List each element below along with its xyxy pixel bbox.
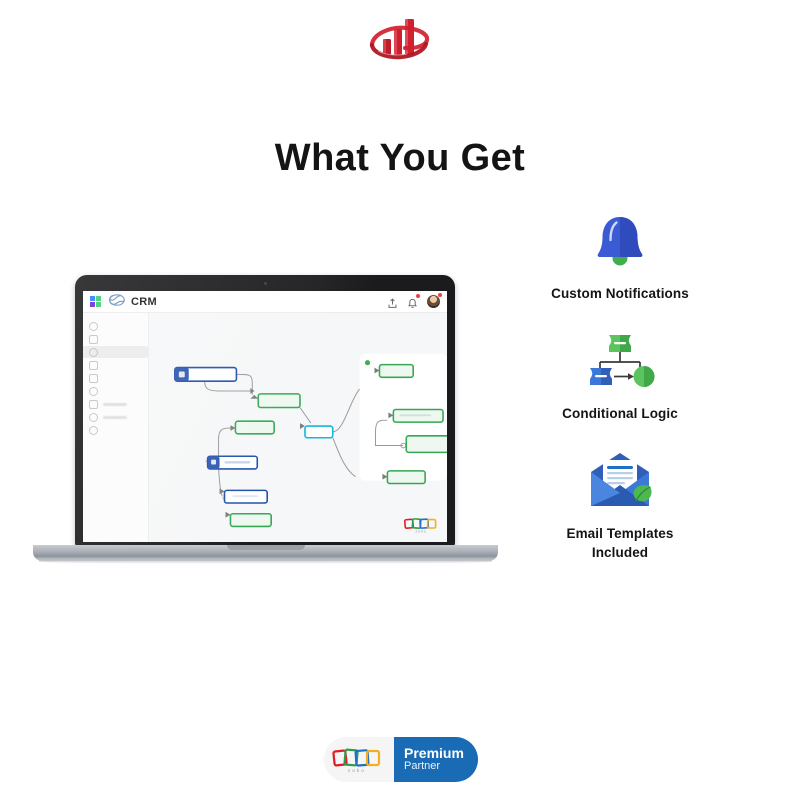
feature-conditional-logic: Conditional Logic bbox=[520, 325, 720, 423]
laptop-lid: CRM bbox=[75, 275, 455, 547]
zoho-logo: zoho bbox=[324, 737, 394, 782]
app-grid-logo bbox=[90, 296, 102, 308]
sidebar-item-tasks[interactable] bbox=[83, 385, 148, 397]
laptop-base-shadow bbox=[39, 559, 492, 564]
workflow-diagram bbox=[149, 313, 447, 542]
sidebar-item-home[interactable] bbox=[83, 320, 148, 332]
sidebar-item-label bbox=[103, 416, 127, 419]
more-icon bbox=[89, 426, 98, 435]
sidebar-item-feeds[interactable] bbox=[83, 333, 148, 345]
zoho-wordmark: zoho bbox=[348, 768, 366, 773]
bar-chart-swoosh-logo bbox=[367, 11, 433, 61]
email-template-icon bbox=[520, 445, 720, 517]
zoho-loop-icon bbox=[109, 293, 125, 311]
webcam-icon bbox=[264, 282, 267, 285]
home-icon bbox=[89, 322, 98, 331]
bar-chart-swoosh-icon bbox=[367, 11, 433, 61]
crm-topbar: CRM bbox=[83, 291, 447, 313]
svg-text:zoho: zoho bbox=[415, 529, 426, 533]
badge-premium-label: Premium bbox=[404, 746, 478, 761]
badge-partner-label: Partner bbox=[404, 760, 478, 773]
sidebar-item-label bbox=[103, 403, 127, 406]
sidebar-item-workflow[interactable] bbox=[83, 346, 148, 358]
share-icon[interactable] bbox=[387, 296, 398, 307]
zoho-logo-watermark: zoho bbox=[404, 517, 438, 533]
workflow-builder-canvas[interactable]: zoho bbox=[149, 313, 447, 542]
sidebar-item-messages[interactable] bbox=[83, 372, 148, 384]
notification-bell-icon[interactable] bbox=[407, 296, 418, 307]
feature-label: Email Templates Included bbox=[520, 525, 720, 561]
premium-partner-text: Premium Partner bbox=[394, 737, 478, 782]
brand-logo bbox=[0, 8, 800, 64]
zoho-premium-partner-badge: zoho Premium Partner bbox=[324, 737, 478, 782]
sidebar-item-more[interactable] bbox=[83, 424, 148, 436]
feature-email-templates: Email Templates Included bbox=[520, 445, 720, 561]
workflow-icon bbox=[89, 348, 98, 357]
avatar-badge bbox=[438, 293, 442, 297]
crm-sidebar bbox=[83, 313, 149, 542]
feature-list: Custom Notifications bbox=[520, 205, 720, 584]
sidebar-item-deals[interactable] bbox=[83, 359, 148, 371]
page-title: What You Get bbox=[0, 137, 800, 180]
feature-label: Custom Notifications bbox=[520, 285, 720, 303]
notification-badge bbox=[416, 294, 420, 298]
green-status-dot bbox=[365, 360, 370, 365]
clock-icon bbox=[89, 387, 98, 396]
sidebar-item-settings[interactable] bbox=[83, 411, 148, 423]
report-icon bbox=[89, 400, 98, 409]
settings-icon bbox=[89, 413, 98, 422]
bell-icon bbox=[520, 205, 720, 277]
message-icon bbox=[89, 374, 98, 383]
chat-icon bbox=[89, 335, 98, 344]
grid-icon bbox=[89, 361, 98, 370]
sidebar-item-reports[interactable] bbox=[83, 398, 148, 410]
feature-custom-notifications: Custom Notifications bbox=[520, 205, 720, 303]
feature-label: Conditional Logic bbox=[520, 405, 720, 423]
crm-body: zoho bbox=[83, 313, 447, 542]
conditional-logic-icon bbox=[520, 325, 720, 397]
topbar-actions bbox=[387, 295, 440, 308]
user-avatar[interactable] bbox=[427, 295, 440, 308]
laptop-screen: CRM bbox=[83, 291, 447, 542]
laptop-mockup: CRM bbox=[33, 275, 498, 575]
app-title: CRM bbox=[131, 296, 157, 308]
